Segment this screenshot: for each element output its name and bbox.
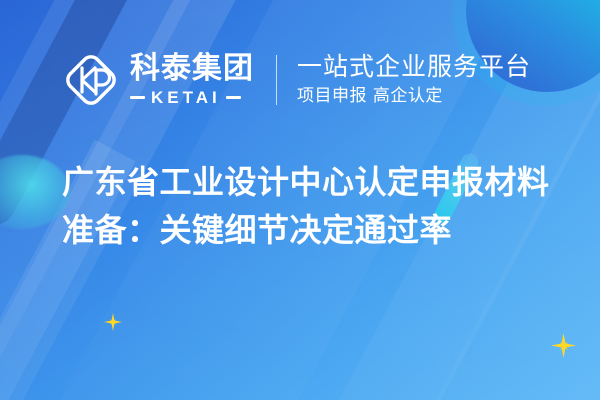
page-title: 广东省工业设计中心认定申报材料 准备：关键细节决定通过率: [62, 158, 562, 254]
slogan-block: 一站式企业服务平台 项目申报 高企认定: [297, 50, 531, 110]
ketai-diamond-kd-logo-icon: [62, 51, 120, 109]
slogan-primary: 一站式企业服务平台: [297, 53, 531, 81]
sparkle-icon: [551, 333, 576, 358]
page-title-line-2: 准备：关键细节决定通过率: [62, 206, 562, 254]
logo-company-name-cn: 科泰集团: [130, 54, 254, 84]
logo-dash-left: [130, 96, 145, 99]
logo-company-name-en-row: KETAI: [130, 89, 254, 106]
cyan-glow-circle: [0, 155, 70, 229]
header-divider: [276, 55, 277, 105]
logo-dash-right: [226, 96, 241, 99]
banner-header: 科泰集团 KETAI 一站式企业服务平台 项目申报 高企认定: [62, 44, 531, 116]
sparkle-icon: [104, 313, 122, 331]
logo-company-name-en: KETAI: [151, 89, 221, 106]
page-title-line-1: 广东省工业设计中心认定申报材料: [62, 158, 562, 206]
promo-banner: 科泰集团 KETAI 一站式企业服务平台 项目申报 高企认定 广东省工业设计中心…: [0, 0, 600, 400]
logo-wordmark: 科泰集团 KETAI: [130, 51, 254, 109]
slogan-secondary: 项目申报 高企认定: [297, 86, 531, 106]
